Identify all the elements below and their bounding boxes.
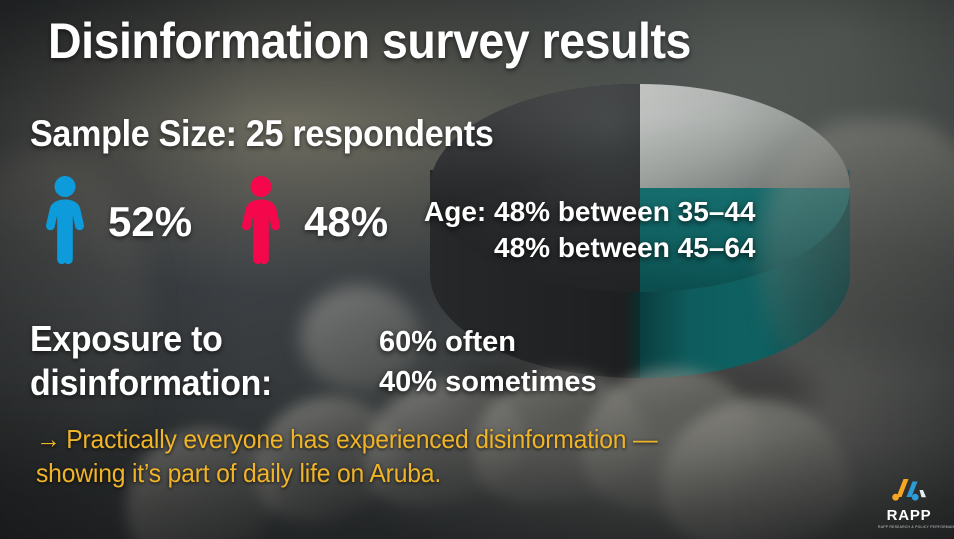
conclusion-line1-text: Practically everyone has experienced dis… <box>66 424 657 454</box>
exposure-often-value: 60% often <box>379 322 597 362</box>
male-percentage: 52% <box>108 201 192 243</box>
exposure-label-line2: disinformation: <box>30 361 272 405</box>
age-line-45-64: 48% between 45–64 <box>424 230 756 266</box>
rapp-logo[interactable]: RAPP RAPP RESEARCH & POLICY PERFORMANCE <box>878 479 940 529</box>
conclusion-text: →Practically everyone has experienced di… <box>36 422 825 491</box>
rapp-logo-tagline: RAPP RESEARCH & POLICY PERFORMANCE <box>878 525 940 529</box>
female-person-icon <box>240 176 282 269</box>
slide-title: Disinformation survey results <box>48 12 691 70</box>
rapp-logo-mark-icon <box>878 479 940 506</box>
age-breakdown: Age: 48% between 35–44 48% between 45–64 <box>424 194 756 266</box>
conclusion-line2: showing it’s part of daily life on Aruba… <box>36 456 825 490</box>
arrow-right-icon: → <box>36 424 61 454</box>
gender-breakdown: 52% 48% <box>44 176 388 268</box>
male-person-icon <box>44 176 86 269</box>
age-line-35-44: Age: 48% between 35–44 <box>424 194 756 230</box>
exposure-label: Exposure to disinformation: <box>30 317 272 405</box>
rapp-logo-wordmark: RAPP <box>878 508 940 523</box>
slide-canvas: Disinformation survey results Sample Siz… <box>0 0 954 539</box>
exposure-label-line1: Exposure to <box>30 317 272 361</box>
female-percentage: 48% <box>304 201 388 243</box>
exposure-values: 60% often 40% sometimes <box>379 322 597 402</box>
slide-content: Disinformation survey results Sample Siz… <box>0 0 954 539</box>
conclusion-line1: →Practically everyone has experienced di… <box>36 422 825 456</box>
exposure-sometimes-value: 40% sometimes <box>379 362 597 402</box>
sample-size-text: Sample Size: 25 respondents <box>30 113 494 155</box>
